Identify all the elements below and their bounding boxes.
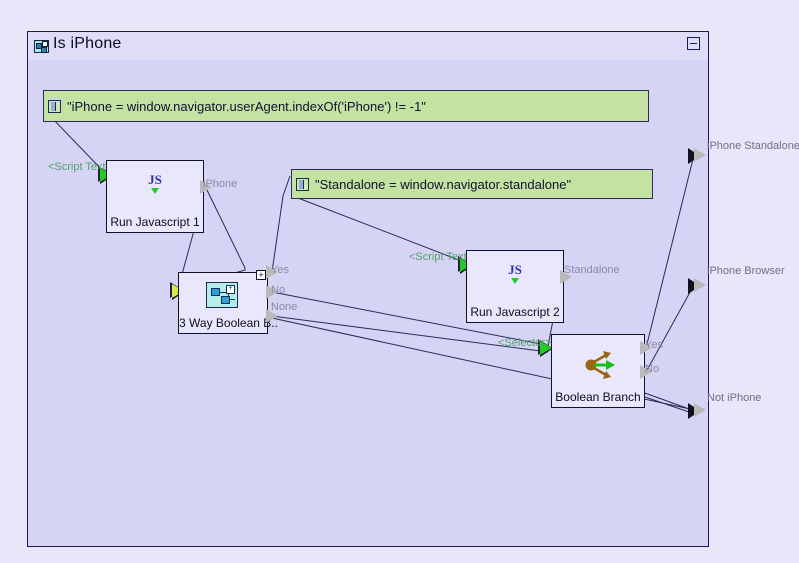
bool3-node-b [221,296,230,304]
node-label: Run Javascript 2 [467,305,563,319]
port-label-yes-bool3: Yes [271,264,289,276]
javascript-icon: JS [138,173,172,203]
diagram-icon [34,40,49,53]
note-icon [296,178,309,191]
page-title: Is iPhone [53,35,122,53]
comment-standalone[interactable]: "Standalone = window.navigator.standalon… [291,169,653,199]
frame-header: Is iPhone [28,32,708,60]
terminal-label-iphone-standalone: iPhone Standalone [707,140,799,152]
terminal-label-iphone-browser: iPhone Browser [707,265,785,277]
node-run-javascript-1[interactable]: JS Run Javascript 1 [106,160,204,233]
note-icon [48,100,61,113]
comment-iphone[interactable]: "iPhone = window.navigator.userAgent.ind… [43,90,649,122]
port-label-script-text-2: <Script Text> [409,251,473,263]
terminal-iphone-standalone[interactable] [694,148,706,162]
bool3-node-a [211,288,220,296]
comment-text: "iPhone = window.navigator.userAgent.ind… [67,100,426,113]
port-label-none-bool3: None [271,301,297,313]
comment-text: "Standalone = window.navigator.standalon… [315,178,571,191]
javascript-icon: JS [498,263,532,293]
port-label-no-branch: No [645,363,659,375]
port-label-selector: <Selector> [498,337,551,349]
terminal-not-iphone[interactable] [694,403,706,417]
node-three-way-boolean-branch[interactable]: + 3 Way Boolean B.. [178,272,268,334]
terminal-label-not-iphone: Not iPhone [707,392,761,404]
port-label-standalone: Standalone [564,264,620,276]
javascript-icon-text: JS [138,173,172,187]
node-label: Run Javascript 1 [107,215,203,229]
node-label: Boolean Branch [552,390,644,404]
terminal-iphone-browser[interactable] [694,278,706,292]
diagram-editor-canvas: Is iPhone [0,0,799,563]
port-label-script-text-1: <Script Text> [48,161,112,173]
node-boolean-branch[interactable]: Boolean Branch [551,334,645,408]
collapse-button[interactable] [687,37,700,50]
node-run-javascript-2[interactable]: JS Run Javascript 2 [466,250,564,323]
bool3-plus-icon: + [226,285,235,294]
boolean-branch-icon [581,349,615,379]
port-label-iphone: iPhone [203,178,237,190]
three-way-boolean-icon: + [206,282,240,312]
port-label-no-bool3: No [271,284,285,296]
node-label: 3 Way Boolean B.. [179,316,267,330]
javascript-icon-text: JS [498,263,532,277]
expander-three-way-boolean[interactable]: + [256,270,266,280]
port-label-yes-branch: Yes [645,339,663,351]
